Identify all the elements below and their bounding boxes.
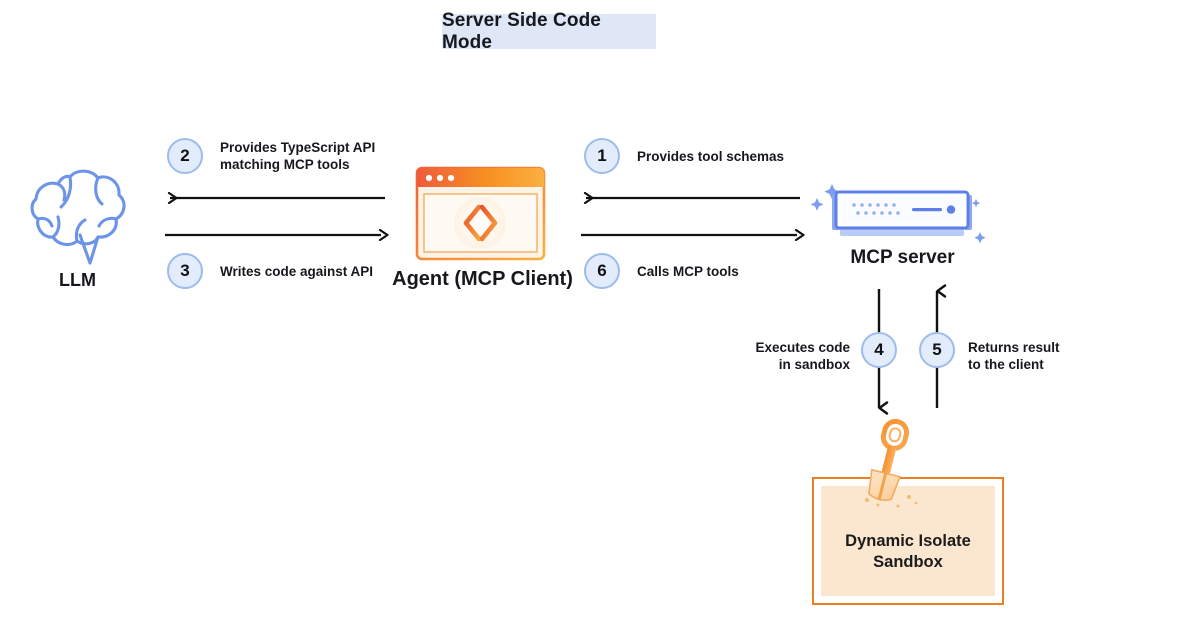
mcp-server-label: MCP server (800, 247, 1005, 269)
server-rack-icon (808, 180, 998, 250)
page-title: Server Side Code Mode (442, 14, 656, 49)
step-3-badge: 3 (167, 253, 203, 289)
brain-icon (28, 160, 134, 265)
shovel-icon (853, 418, 927, 508)
sandbox-label: Dynamic Isolate Sandbox (845, 531, 971, 574)
agent-label: Agent (MCP Client) (375, 268, 590, 291)
step-2-badge: 2 (167, 138, 203, 174)
step-1-caption: Provides tool schemas (637, 148, 784, 165)
step-4-caption: Executes code in sandbox (752, 339, 850, 374)
step-6-badge: 6 (584, 253, 620, 289)
step-1-badge: 1 (584, 138, 620, 174)
step-2-caption: Provides TypeScript API matching MCP too… (220, 139, 375, 174)
step-5-badge: 5 (919, 332, 955, 368)
browser-window-icon (415, 166, 546, 261)
page-title-text: Server Side Code Mode (442, 10, 656, 54)
arrow-layer (0, 0, 1200, 630)
step-5-caption: Returns result to the client (968, 339, 1078, 374)
step-4-badge: 4 (861, 332, 897, 368)
llm-label: LLM (0, 270, 155, 291)
step-6-caption: Calls MCP tools (637, 263, 739, 280)
step-3-caption: Writes code against API (220, 263, 373, 280)
diagram-canvas: Server Side Code Mode (0, 0, 1200, 630)
